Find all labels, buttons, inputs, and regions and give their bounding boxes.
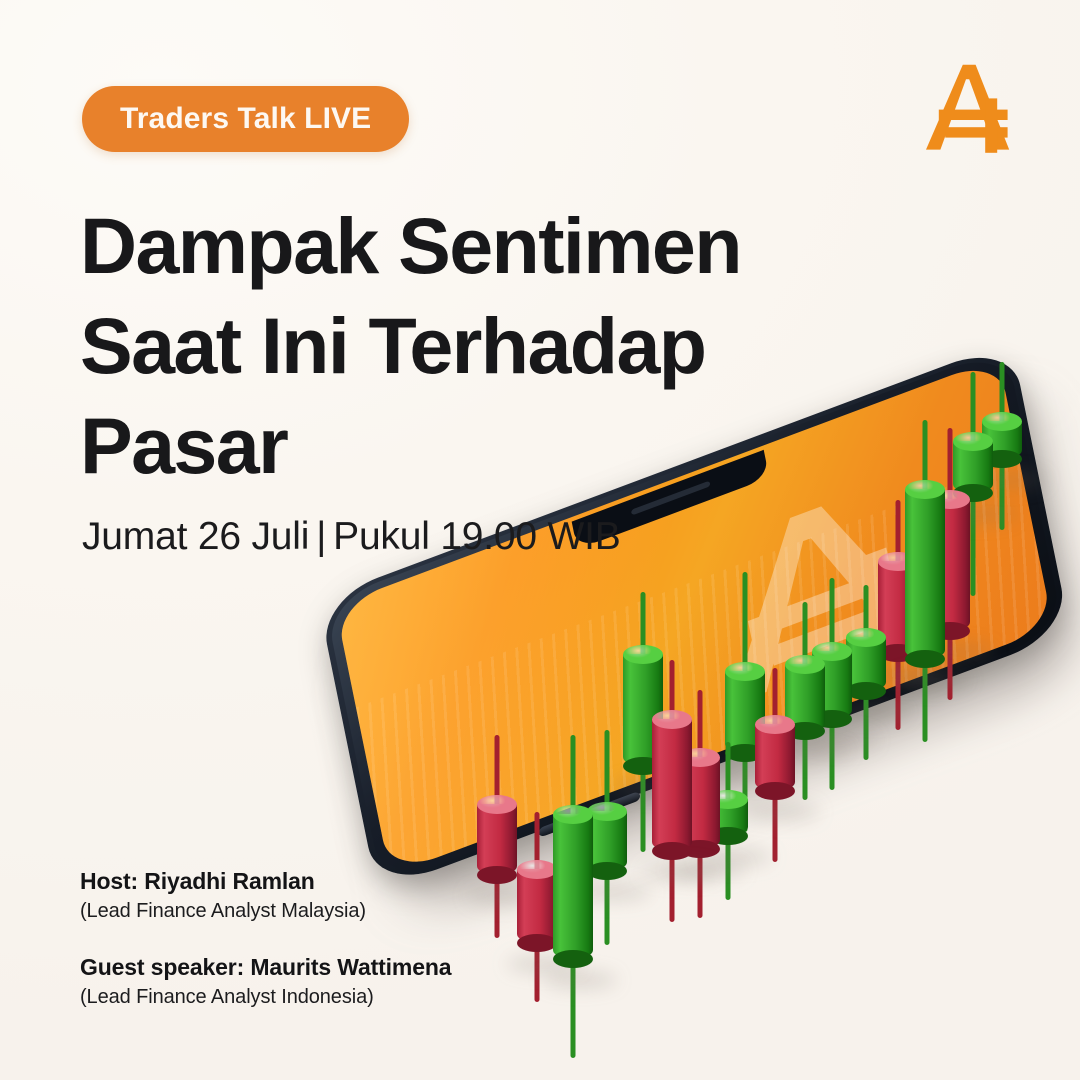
candle-shadow [642, 864, 716, 880]
candle-body-cap [652, 710, 692, 729]
candle-body [755, 715, 795, 800]
candle-body-cap [517, 860, 557, 879]
candle-body-cap [587, 802, 627, 821]
schedule-line: Jumat 26 Juli|Pukul 19.00 WIB [82, 515, 621, 559]
candle-body-base [553, 950, 593, 968]
candle-body [652, 710, 692, 860]
promo-poster: Traders Talk LIVE Dampak Sentimen Saat I… [0, 0, 1080, 1080]
candle-body-side [517, 869, 557, 943]
candle-body-side [652, 719, 692, 851]
candle-body-cap [477, 795, 517, 814]
candle-body [587, 802, 627, 880]
schedule-date: Jumat 26 Juli [82, 515, 309, 558]
candle-body-base [477, 866, 517, 884]
candle-body-side [477, 804, 517, 875]
candle-body [553, 805, 593, 968]
schedule-separator: | [309, 515, 333, 558]
candle-body-base [905, 650, 945, 668]
headline-line-1: Dampak Sentimen [80, 196, 840, 296]
candlestick-bearish [517, 812, 557, 1002]
candle-body-cap [755, 715, 795, 734]
candlestick-bearish [477, 735, 517, 938]
candle-body [517, 860, 557, 952]
candle-shadow [745, 804, 819, 820]
candle-shadow [895, 672, 969, 688]
candle-body-side [553, 814, 593, 959]
page-title: Dampak Sentimen Saat Ini Terhadap Pasar [80, 196, 840, 496]
live-badge: Traders Talk LIVE [82, 86, 409, 152]
candlestick-bullish [553, 735, 593, 1058]
candlestick-bearish [755, 668, 795, 862]
candle-body-cap [846, 628, 886, 647]
candle-body-side [755, 724, 795, 791]
candle-body-base [652, 842, 692, 860]
headline-line-3: Pasar [80, 396, 840, 496]
schedule-time: Pukul 19.00 WIB [333, 515, 620, 558]
candle-body-base [846, 682, 886, 700]
candlestick-bullish [905, 420, 945, 742]
candle-body-cap [553, 805, 593, 824]
candle-body [846, 628, 886, 700]
candle-body-base [587, 862, 627, 880]
candle-body [477, 795, 517, 884]
candlestick-bearish [652, 660, 692, 922]
a-currency-logo-icon [926, 60, 1022, 156]
candle-body-side [905, 489, 945, 659]
candle-shadow [543, 972, 617, 988]
candlestick-bullish [587, 730, 627, 945]
live-badge-label: Traders Talk LIVE [120, 102, 371, 136]
candle-body [905, 480, 945, 668]
headline-line-2: Saat Ini Terhadap [80, 296, 840, 396]
candle-body-cap [905, 480, 945, 499]
candle-body-base [517, 934, 557, 952]
candle-body-base [755, 782, 795, 800]
